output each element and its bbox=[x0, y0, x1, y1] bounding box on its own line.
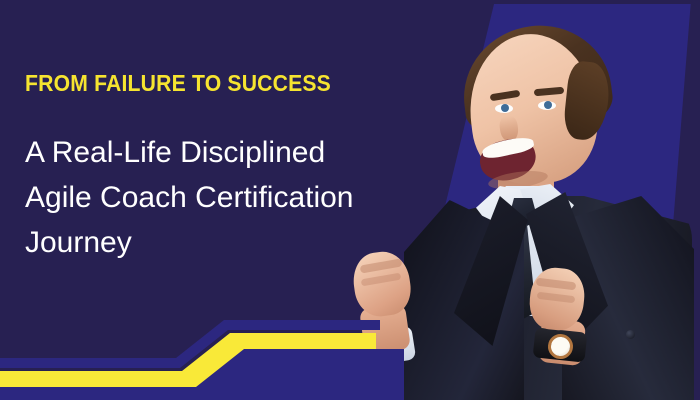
eyebrow-kicker: FROM FAILURE TO SUCCESS bbox=[25, 70, 331, 97]
suit-button bbox=[626, 330, 635, 339]
iris-right bbox=[544, 101, 552, 109]
headline-line-2: Agile Coach Certification bbox=[25, 175, 425, 220]
promo-banner: FROM FAILURE TO SUCCESS A Real-Life Disc… bbox=[0, 0, 700, 400]
headline: A Real-Life Disciplined Agile Coach Cert… bbox=[25, 130, 425, 265]
iris-left bbox=[501, 104, 509, 112]
headline-line-3: Journey bbox=[25, 220, 425, 265]
headline-line-1: A Real-Life Disciplined bbox=[25, 130, 425, 175]
